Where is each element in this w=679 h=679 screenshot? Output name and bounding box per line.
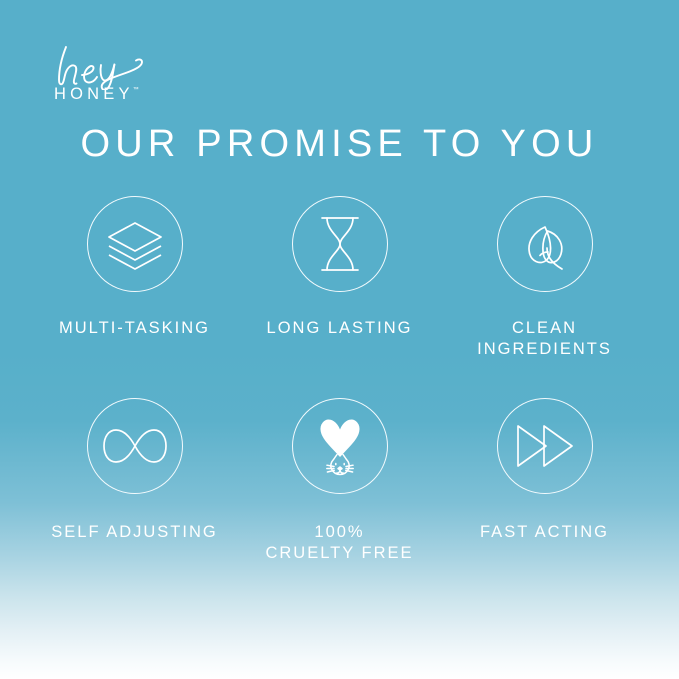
feature-label: MULTI-TASKING xyxy=(59,318,210,339)
feature-row-1: MULTI-TASKING LONG LASTING xyxy=(38,196,641,360)
bunny-heart-icon xyxy=(309,413,371,479)
feature-icon-badge xyxy=(87,398,183,494)
feature-icon-badge xyxy=(497,398,593,494)
feature-row-2: SELF ADJUSTING xyxy=(38,398,641,564)
brand-wordmark-text: HONEY xyxy=(54,85,134,103)
feature-clean-ingredients: CLEAN INGREDIENTS xyxy=(448,196,641,360)
hey-script-logo xyxy=(52,44,162,90)
leaves-icon xyxy=(514,213,576,275)
feature-icon-badge xyxy=(87,196,183,292)
feature-label: SELF ADJUSTING xyxy=(51,522,217,543)
brand-logo: HONEY™ xyxy=(52,44,202,108)
feature-label: FAST ACTING xyxy=(480,522,609,543)
feature-self-adjusting: SELF ADJUSTING xyxy=(38,398,231,543)
feature-multi-tasking: MULTI-TASKING xyxy=(38,196,231,339)
promise-card: HONEY™ OUR PROMISE TO YOU MULTI-TASKING xyxy=(0,0,679,679)
feature-icon-badge xyxy=(497,196,593,292)
feature-label: CLEAN INGREDIENTS xyxy=(477,318,612,360)
feature-icon-badge xyxy=(292,196,388,292)
feature-fast-acting: FAST ACTING xyxy=(448,398,641,543)
feature-grid: MULTI-TASKING LONG LASTING xyxy=(38,196,641,564)
page-title: OUR PROMISE TO YOU xyxy=(0,124,679,166)
feature-label: 100% CRUELTY FREE xyxy=(265,522,413,564)
feature-cruelty-free: 100% CRUELTY FREE xyxy=(243,398,436,564)
infinity-icon xyxy=(102,426,168,466)
feature-long-lasting: LONG LASTING xyxy=(243,196,436,339)
feature-icon-badge xyxy=(292,398,388,494)
fast-forward-icon xyxy=(514,422,576,470)
brand-wordmark: HONEY™ xyxy=(54,86,140,103)
feature-label: LONG LASTING xyxy=(267,318,413,339)
trademark-symbol: ™ xyxy=(133,87,139,93)
hourglass-icon xyxy=(312,213,368,275)
layers-icon xyxy=(104,213,166,275)
